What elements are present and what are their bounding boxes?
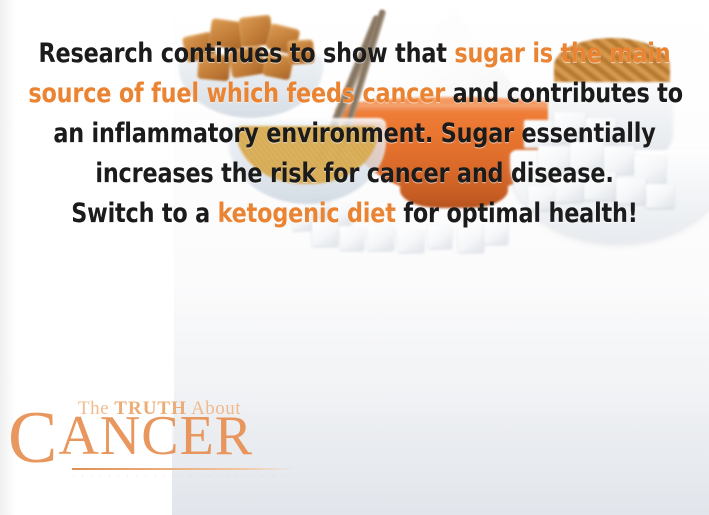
- headline-text: Research continues to show that sugar is…: [28, 34, 680, 234]
- headline-line-2-highlight: source of fuel which feeds cancer: [28, 78, 445, 109]
- logo-cancer-capital-c: C: [8, 397, 58, 479]
- logo-word-cancer: CANCER: [8, 408, 253, 466]
- headline-line-5: Switch to a ketogenic diet for optimal h…: [28, 194, 680, 234]
- headline-line-5-plain-a: Switch to a: [71, 198, 217, 229]
- ttac-logo[interactable]: The TRUTH About CANCER · · · · · · · · ·…: [6, 392, 306, 492]
- headline-line-4: increases the risk for cancer and diseas…: [28, 154, 680, 194]
- headline-line-1-highlight: sugar is the main: [454, 38, 670, 69]
- headline-line-1-plain-a: Research continues to show that: [38, 38, 454, 69]
- headline-line-5-highlight: ketogenic diet: [218, 198, 396, 229]
- headline-line-2-plain: and contributes to: [445, 78, 683, 109]
- logo-cancer-remainder: ANCER: [58, 405, 253, 467]
- headline-line-3: an inflammatory environment. Sugar essen…: [28, 114, 680, 154]
- logo-tagline: · · · · · · · · · · · · · · · · · · · · …: [72, 472, 298, 481]
- poster-image: Research continues to show that sugar is…: [0, 0, 709, 515]
- logo-underline-rule: [72, 468, 294, 470]
- headline-line-5-plain-b: for optimal health!: [396, 198, 638, 229]
- headline-line-2: source of fuel which feeds cancer and co…: [28, 74, 680, 114]
- headline-line-1: Research continues to show that sugar is…: [28, 34, 680, 74]
